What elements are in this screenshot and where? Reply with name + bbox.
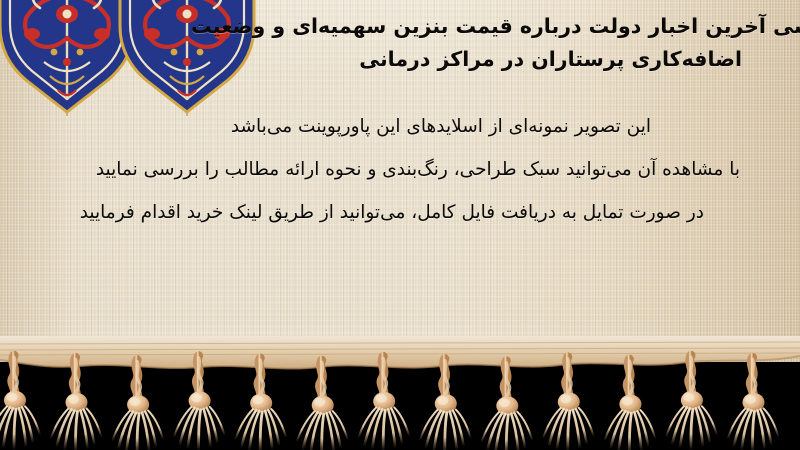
slide-text-layer: سی آخرین اخبار دولت درباره قیمت بنزین سه… bbox=[0, 0, 800, 366]
slide-title-line-1: سی آخرین اخبار دولت درباره قیمت بنزین سه… bbox=[191, 16, 800, 37]
slide-body-line-1: این تصویر نمونه‌ای از اسلایدهای این پاور… bbox=[231, 118, 651, 137]
slide-canvas: سی آخرین اخبار دولت درباره قیمت بنزین سه… bbox=[0, 0, 800, 450]
slide-body-line-3: در صورت تمایل به دریافت فایل کامل، می‌تو… bbox=[80, 204, 704, 223]
slide-body-line-2: با مشاهده آن می‌توانید سبک طراحی، رنگ‌بن… bbox=[96, 161, 740, 180]
slide-title-line-2: اضافه‌کاری پرستاران در مراکز درمانی bbox=[359, 49, 742, 70]
